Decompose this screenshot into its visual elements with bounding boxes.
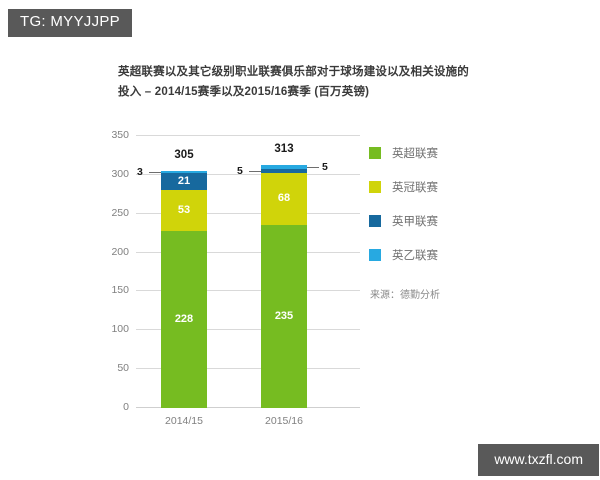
watermark: www.txzfl.com: [478, 444, 599, 476]
watermark-label: www.txzfl.com: [494, 451, 583, 467]
legend-swatch-icon: [369, 147, 381, 159]
y-axis-tick-50: 50: [117, 362, 129, 374]
chart-plot-area: 050100150200250300350 215322830568235313…: [136, 136, 360, 408]
legend-swatch-icon: [369, 249, 381, 261]
bar-segment-2015-16-英冠联赛[interactable]: 68: [261, 173, 307, 226]
legend-label: 英冠联赛: [392, 179, 438, 195]
legend-item-英超联赛[interactable]: 英超联赛: [369, 136, 438, 170]
y-axis-tick-100: 100: [111, 323, 129, 335]
y-axis-tick-150: 150: [111, 284, 129, 296]
legend-item-英甲联赛[interactable]: 英甲联赛: [369, 204, 438, 238]
bar-2015-16[interactable]: 68235313: [261, 165, 307, 408]
bar-2014-15[interactable]: 2153228305: [161, 171, 207, 408]
legend-swatch-icon: [369, 215, 381, 227]
bar-segment-value: 228: [175, 314, 193, 325]
callout-leader-line: [249, 171, 261, 172]
x-axis-label-2015-16: 2015/16: [265, 415, 303, 427]
bar-segment-value: 21: [178, 176, 190, 187]
tg-tag-label: TG: MYYJJPP: [20, 13, 120, 30]
callout-value-2015-16-英甲联赛: 5: [237, 165, 243, 177]
y-axis-tick-200: 200: [111, 246, 129, 258]
bar-segment-2015-16-英超联赛[interactable]: 235: [261, 225, 307, 408]
callout-value-2015-16-英乙联赛: 5: [322, 161, 328, 173]
legend-label: 英乙联赛: [392, 247, 438, 263]
callout-leader-line: [149, 172, 161, 173]
y-axis-tick-250: 250: [111, 207, 129, 219]
bar-segment-value: 53: [178, 205, 190, 216]
y-axis-tick-350: 350: [111, 129, 129, 141]
bar-total-2015-16: 313: [274, 143, 293, 155]
legend-item-英乙联赛[interactable]: 英乙联赛: [369, 238, 438, 272]
tg-tag: TG: MYYJJPP: [8, 9, 132, 37]
callout-leader-line: [307, 167, 319, 168]
y-axis-tick-300: 300: [111, 168, 129, 180]
bar-segment-value: 68: [278, 193, 290, 204]
chart-title: 英超联赛以及其它级别职业联赛俱乐部对于球场建设以及相关设施的投入 – 2014/…: [118, 62, 478, 102]
y-axis-tick-0: 0: [123, 401, 129, 413]
bar-segment-2014-15-英甲联赛[interactable]: 21: [161, 173, 207, 189]
legend-label: 英甲联赛: [392, 213, 438, 229]
bar-segment-value: 235: [275, 311, 293, 322]
bar-segment-2014-15-英超联赛[interactable]: 228: [161, 231, 207, 408]
x-axis-label-2014-15: 2014/15: [165, 415, 203, 427]
gridline-350: 350: [136, 135, 360, 136]
callout-value-2014-15-英乙联赛: 3: [137, 166, 143, 178]
legend-swatch-icon: [369, 181, 381, 193]
source-note: 来源：德勤分析: [370, 286, 440, 301]
legend-item-英冠联赛[interactable]: 英冠联赛: [369, 170, 438, 204]
bar-segment-2014-15-英冠联赛[interactable]: 53: [161, 190, 207, 231]
bar-total-2014-15: 305: [174, 149, 193, 161]
chart-legend: 英超联赛英冠联赛英甲联赛英乙联赛: [369, 136, 438, 272]
legend-label: 英超联赛: [392, 145, 438, 161]
